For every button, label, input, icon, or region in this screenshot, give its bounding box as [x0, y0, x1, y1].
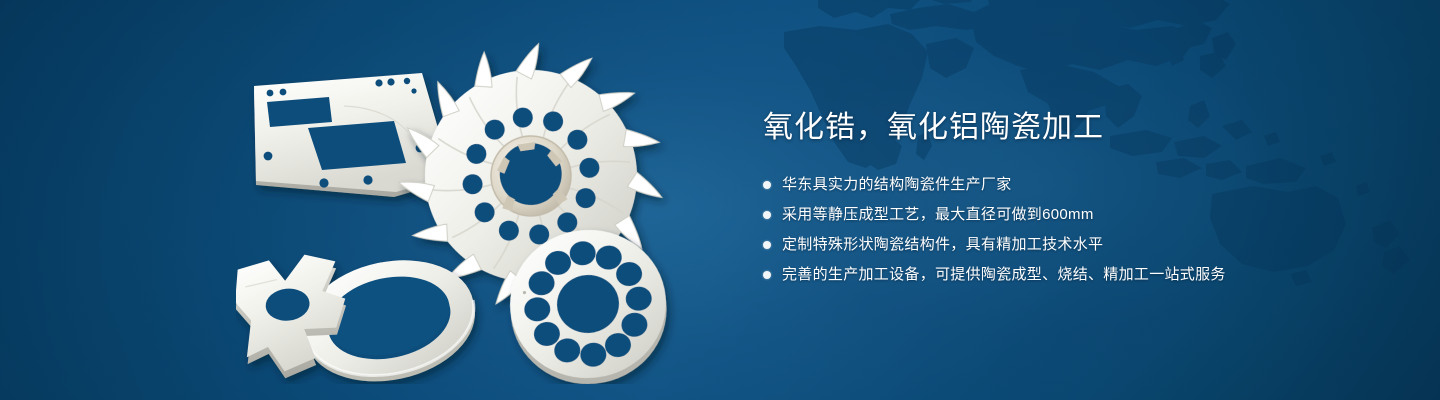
bullet-dot-icon — [763, 241, 771, 249]
list-item: 采用等静压成型工艺，最大直径可做到600mm — [763, 204, 1323, 226]
feature-text: 采用等静压成型工艺，最大直径可做到600mm — [782, 204, 1094, 226]
feature-list: 华东具实力的结构陶瓷件生产厂家 采用等静压成型工艺，最大直径可做到600mm 定… — [763, 174, 1323, 286]
feature-text: 华东具实力的结构陶瓷件生产厂家 — [782, 174, 1012, 196]
list-item: 华东具实力的结构陶瓷件生产厂家 — [763, 174, 1323, 196]
product-photo-collage — [236, 36, 706, 384]
bullet-dot-icon — [763, 271, 771, 279]
ceramic-cross-part-and-ring — [236, 245, 486, 384]
hero-banner: 氧化锆，氧化铝陶瓷加工 华东具实力的结构陶瓷件生产厂家 采用等静压成型工艺，最大… — [0, 0, 1440, 400]
page-title: 氧化锆，氧化铝陶瓷加工 — [763, 108, 1323, 148]
feature-text: 完善的生产加工设备，可提供陶瓷成型、烧结、精加工一站式服务 — [782, 264, 1226, 286]
list-item: 定制特殊形状陶瓷结构件，具有精加工技术水平 — [763, 234, 1323, 256]
banner-copy: 氧化锆，氧化铝陶瓷加工 华东具实力的结构陶瓷件生产厂家 采用等静压成型工艺，最大… — [763, 108, 1323, 294]
feature-text: 定制特殊形状陶瓷结构件，具有精加工技术水平 — [782, 234, 1103, 256]
bullet-dot-icon — [763, 211, 771, 219]
list-item: 完善的生产加工设备，可提供陶瓷成型、烧结、精加工一站式服务 — [763, 264, 1323, 286]
bullet-dot-icon — [763, 181, 771, 189]
